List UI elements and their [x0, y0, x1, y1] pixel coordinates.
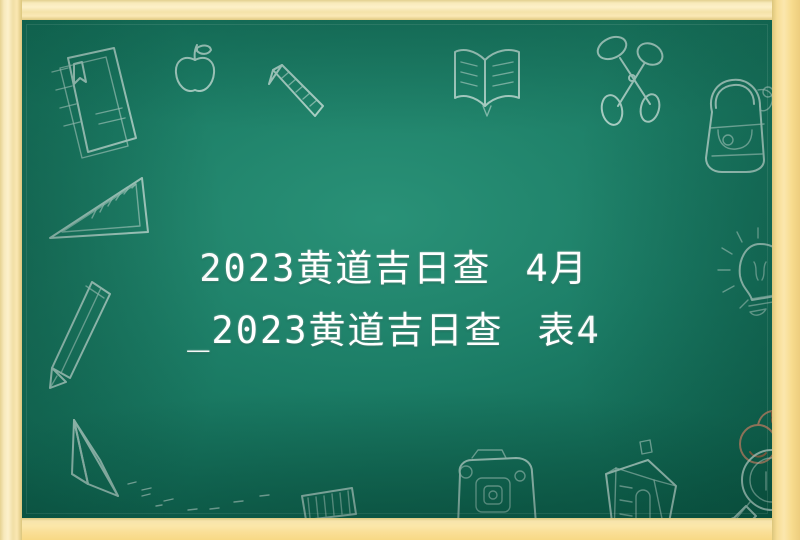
title-line-1-suffix: 4月	[525, 247, 588, 290]
lightbulb-doodle	[714, 226, 772, 322]
camera-doodle	[450, 448, 544, 518]
crayon-doodle	[265, 62, 337, 124]
notebook-doodle	[36, 42, 146, 162]
ruler-doodle	[300, 486, 362, 518]
chalkboard-title-card: 2023黄道吉日查4月 _2023黄道吉日查表4	[0, 0, 800, 540]
frame-bottom-edge	[0, 518, 800, 540]
magnifier-doodle	[722, 448, 772, 518]
pencil-case-doodle	[592, 438, 690, 518]
backpack-doodle	[694, 68, 772, 180]
cherry-doodle	[734, 408, 772, 468]
triangle-ruler-doodle	[44, 170, 156, 250]
pencil-doodle	[48, 280, 124, 394]
title-line-2-prefix: _2023黄道吉日查	[187, 309, 503, 352]
title-line-1-prefix: 2023黄道吉日查	[199, 247, 491, 290]
plane-trail-doodle	[140, 482, 290, 518]
frame-top-edge	[0, 0, 800, 20]
board-inner-outline	[26, 24, 768, 514]
frame-right-edge	[772, 0, 800, 540]
scissors-doodle	[592, 34, 678, 124]
title-line-2: _2023黄道吉日查表4	[44, 300, 744, 362]
chalkboard-surface: 2023黄道吉日查4月 _2023黄道吉日查表4	[22, 20, 772, 518]
apple-doodle	[170, 42, 220, 96]
open-book-doodle	[447, 40, 527, 120]
title-line-1: 2023黄道吉日查4月	[44, 238, 744, 300]
frame-left-edge	[0, 0, 22, 540]
title-line-2-suffix: 表4	[538, 309, 601, 352]
page-title: 2023黄道吉日查4月 _2023黄道吉日查表4	[44, 238, 744, 362]
paper-plane-doodle	[52, 412, 162, 518]
